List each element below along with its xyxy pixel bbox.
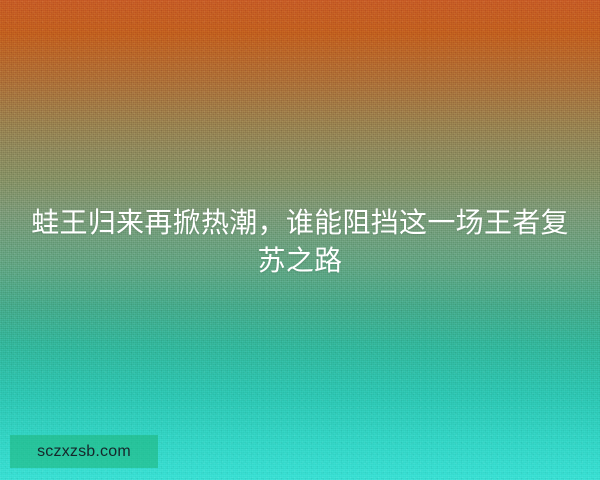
gradient-background xyxy=(0,0,600,480)
watermark-badge: sczxzsb.com xyxy=(10,435,158,468)
watermark-domain-label: sczxzsb.com xyxy=(37,444,131,460)
cover-image-canvas: 蛙王归来再掀热潮，谁能阻挡这一场王者复苏之路 sczxzsb.com xyxy=(0,0,600,480)
